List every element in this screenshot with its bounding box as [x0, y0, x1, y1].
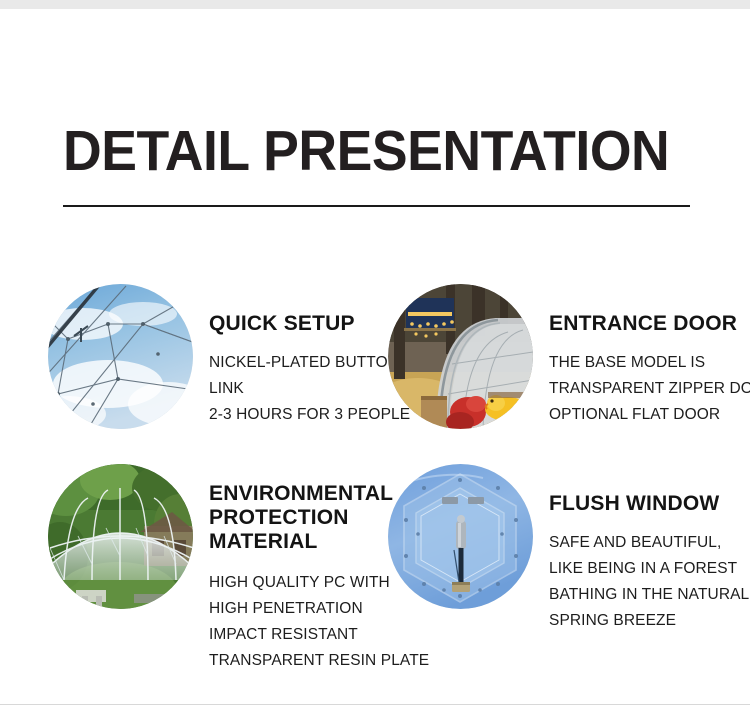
feature-heading: QUICK SETUP: [209, 312, 410, 336]
feature-grid: QUICK SETUP NICKEL-PLATED BUTTON LINK 2-…: [0, 284, 750, 644]
feature-text: FLUSH WINDOW SAFE AND BEAUTIFUL, LIKE BE…: [549, 464, 749, 634]
body-line: TRANSPARENT ZIPPER DOOR: [549, 376, 750, 402]
feature-body: THE BASE MODEL IS TRANSPARENT ZIPPER DOO…: [549, 350, 750, 428]
feature-body: SAFE AND BEAUTIFUL, LIKE BEING IN A FORE…: [549, 530, 749, 634]
blue-hexagonal-flush-window-photo: [388, 464, 533, 609]
body-line: SPRING BREEZE: [549, 608, 749, 634]
feature-row: ENVIRONMENTAL PROTECTION MATERIAL HIGH Q…: [0, 464, 750, 644]
feature-quick-setup: QUICK SETUP NICKEL-PLATED BUTTON LINK 2-…: [48, 284, 378, 429]
body-line: LIKE BEING IN A FOREST: [549, 556, 749, 582]
clear-dome-in-forest-photo: [48, 464, 193, 609]
page-top-edge-strip: [0, 0, 750, 9]
feature-entrance-door: ENTRANCE DOOR THE BASE MODEL IS TRANSPAR…: [388, 284, 728, 429]
feature-row: QUICK SETUP NICKEL-PLATED BUTTON LINK 2-…: [0, 284, 750, 464]
body-line: OPTIONAL FLAT DOOR: [549, 402, 750, 428]
body-line: THE BASE MODEL IS: [549, 350, 750, 376]
feature-flush-window: FLUSH WINDOW SAFE AND BEAUTIFUL, LIKE BE…: [388, 464, 728, 634]
feature-body: NICKEL-PLATED BUTTON LINK 2-3 HOURS FOR …: [209, 350, 410, 428]
transparent-dome-entrance-photo: [388, 284, 533, 429]
page-bottom-edge-line: [0, 704, 750, 705]
body-line: 2-3 HOURS FOR 3 PEOPLE: [209, 402, 410, 428]
feature-text: QUICK SETUP NICKEL-PLATED BUTTON LINK 2-…: [209, 284, 410, 428]
feature-heading: FLUSH WINDOW: [549, 492, 749, 516]
feature-text: ENTRANCE DOOR THE BASE MODEL IS TRANSPAR…: [549, 284, 750, 428]
feature-heading: ENTRANCE DOOR: [549, 312, 750, 336]
body-line: TRANSPARENT RESIN PLATE: [209, 648, 429, 674]
feature-environmental-protection-material: ENVIRONMENTAL PROTECTION MATERIAL HIGH Q…: [48, 464, 378, 674]
title-divider-rule: [63, 205, 690, 207]
body-line: NICKEL-PLATED BUTTON: [209, 350, 410, 376]
body-line: BATHING IN THE NATURAL: [549, 582, 749, 608]
body-line: LINK: [209, 376, 410, 402]
page-title: DETAIL PRESENTATION: [63, 120, 669, 182]
dome-frame-against-sky-photo: [48, 284, 193, 429]
body-line: SAFE AND BEAUTIFUL,: [549, 530, 749, 556]
